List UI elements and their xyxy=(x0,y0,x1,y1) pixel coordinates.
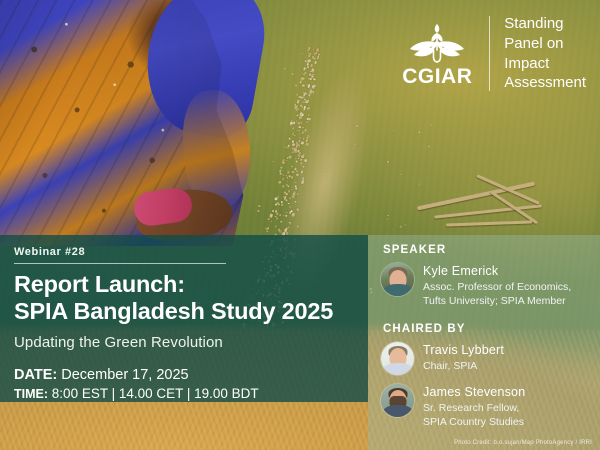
event-details: Webinar #28 Report Launch: SPIA Banglade… xyxy=(14,246,364,404)
webinar-poster: CGIAR Standing Panel on Impact Assessmen… xyxy=(0,0,600,450)
speaker-text: Kyle Emerick Assoc. Professor of Economi… xyxy=(423,263,571,309)
avatar-kyle-emerick xyxy=(381,263,414,296)
time-row: TIME: 8:00 EST | 14.00 CET | 19.00 BDT xyxy=(14,385,364,404)
speaker-section-label: SPEAKER xyxy=(383,244,593,256)
title-rule xyxy=(14,263,226,264)
photo-credit: Photo Credit: b.o.sujan/Map PhotoAgency … xyxy=(454,440,592,446)
cgiar-wheat-icon xyxy=(408,20,466,64)
chair-item: Travis Lybbert Chair, SPIA xyxy=(381,342,593,375)
time-value: 8:00 EST | 14.00 CET | 19.00 BDT xyxy=(52,386,259,401)
avatar-james-stevenson xyxy=(381,384,414,417)
speaker-item: Kyle Emerick Assoc. Professor of Economi… xyxy=(381,263,593,309)
chair-name: James Stevenson xyxy=(423,385,525,400)
date-label: DATE: xyxy=(14,367,57,383)
logo-divider xyxy=(489,16,490,91)
avatar-shirt xyxy=(383,284,413,296)
cgiar-wordmark: CGIAR xyxy=(402,66,472,87)
avatar-travis-lybbert xyxy=(381,342,414,375)
page-subtitle: Updating the Green Revolution xyxy=(14,334,364,351)
spia-panel-name: Standing Panel on Impact Assessment xyxy=(504,14,586,93)
avatar-shirt xyxy=(383,405,413,417)
chair-text: James Stevenson Sr. Research Fellow, SPI… xyxy=(423,384,525,430)
farmer-woman-figure xyxy=(0,0,254,246)
time-label: TIME: xyxy=(14,387,48,401)
date-time-block: DATE: December 17, 2025 TIME: 8:00 EST |… xyxy=(14,365,364,404)
cgiar-spia-logo: CGIAR Standing Panel on Impact Assessmen… xyxy=(399,14,586,93)
people-panel: SPEAKER Kyle Emerick Assoc. Professor of… xyxy=(381,244,593,438)
chair-role: Sr. Research Fellow, SPIA Country Studie… xyxy=(423,402,525,430)
chair-role: Chair, SPIA xyxy=(423,360,504,374)
speaker-role: Assoc. Professor of Economics, Tufts Uni… xyxy=(423,281,571,309)
chair-text: Travis Lybbert Chair, SPIA xyxy=(423,342,504,374)
date-row: DATE: December 17, 2025 xyxy=(14,365,364,385)
chair-item: James Stevenson Sr. Research Fellow, SPI… xyxy=(381,384,593,430)
speaker-name: Kyle Emerick xyxy=(423,264,571,279)
page-title: Report Launch: SPIA Bangladesh Study 202… xyxy=(14,271,364,324)
webinar-number: Webinar #28 xyxy=(14,246,364,258)
avatar-shirt xyxy=(383,363,413,375)
date-value: December 17, 2025 xyxy=(61,367,188,383)
chair-name: Travis Lybbert xyxy=(423,343,504,358)
chaired-by-section-label: CHAIRED BY xyxy=(383,323,593,335)
cgiar-logo-mark: CGIAR xyxy=(399,20,475,87)
